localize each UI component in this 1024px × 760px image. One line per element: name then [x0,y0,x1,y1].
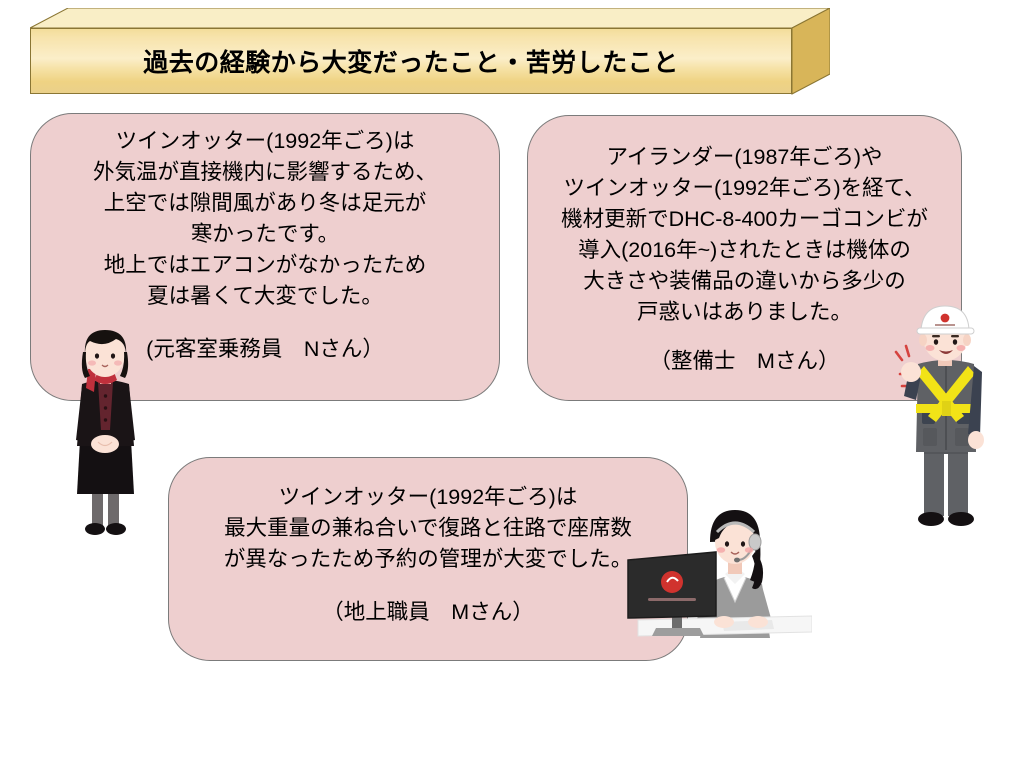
mechanic-ear-right [963,334,971,346]
agent-hand-left [714,616,734,628]
mechanic-eyebrow-left [932,335,940,337]
mechanic-leg-right [948,450,968,516]
mechanic-pocket-lower-right [955,428,969,446]
banner-top-bevel [30,8,830,28]
mechanic-hand-right [968,431,984,449]
mechanic-raised-hand [901,362,921,382]
monitor-stand-base [652,628,704,636]
mechanic-eye-right [953,339,957,345]
attendant-hands [91,435,119,453]
attendant-shoe-right [106,523,126,535]
attendant-eye-left [95,353,99,358]
title-banner: 過去の経験から大変だったこと・苦労したこと [30,8,830,96]
attendant-cheek-right [114,360,122,365]
mechanic-ear-left [919,334,927,346]
attendant-button [104,418,107,421]
attendant-button [104,394,107,397]
mechanic-pocket-lower-left [923,428,937,446]
attendant-leg-left [92,490,103,526]
mechanic-helmet-logo [941,314,950,323]
monitor-logo-caption [648,598,696,601]
testimonial-card-ground-staff: ツインオッター(1992年ごろ)は 最大重量の兼ね合いで復路と往路で座席数 が異… [168,457,688,661]
mechanic-shoe-right [948,512,974,526]
testimonial-attribution: （地上職員 Mさん） [169,597,687,628]
aircraft-mechanic-illustration [890,300,1002,532]
banner-front-face: 過去の経験から大変だったこと・苦労したこと [30,28,792,94]
ground-staff-illustration [612,498,812,658]
agent-cheek-left [717,547,725,553]
testimonial-body: ツインオッター(1992年ごろ)は 外気温が直接機内に影響するため、 上空では隙… [31,126,499,312]
attendant-leg-right [108,490,119,526]
agent-eye-left [725,541,729,546]
mechanic-helmet-logo-text [935,324,955,326]
attendant-button [104,406,107,409]
flight-attendant-illustration [52,322,158,542]
mechanic-cheek-right [957,345,966,351]
agent-headset-mic [734,558,740,563]
mechanic-shoe-left [918,512,944,526]
attendant-eye-right [111,353,115,358]
mechanic-helmet-brim [917,328,974,334]
agent-cheek-right [745,547,753,553]
attendant-shoe-left [85,523,105,535]
attendant-cheek-left [88,360,96,365]
mechanic-eye-left [934,339,938,345]
agent-eye-right [741,541,745,546]
mechanic-eyebrow-right [951,335,959,337]
mechanic-cheek-left [926,345,935,351]
testimonial-body: ツインオッター(1992年ごろ)は 最大重量の兼ね合いで復路と往路で座席数 が異… [169,482,687,575]
page-title: 過去の経験から大変だったこと・苦労したこと [143,43,679,79]
monitor-logo [661,571,683,593]
mechanic-leg-left [924,450,944,516]
agent-hand-right [748,616,768,628]
